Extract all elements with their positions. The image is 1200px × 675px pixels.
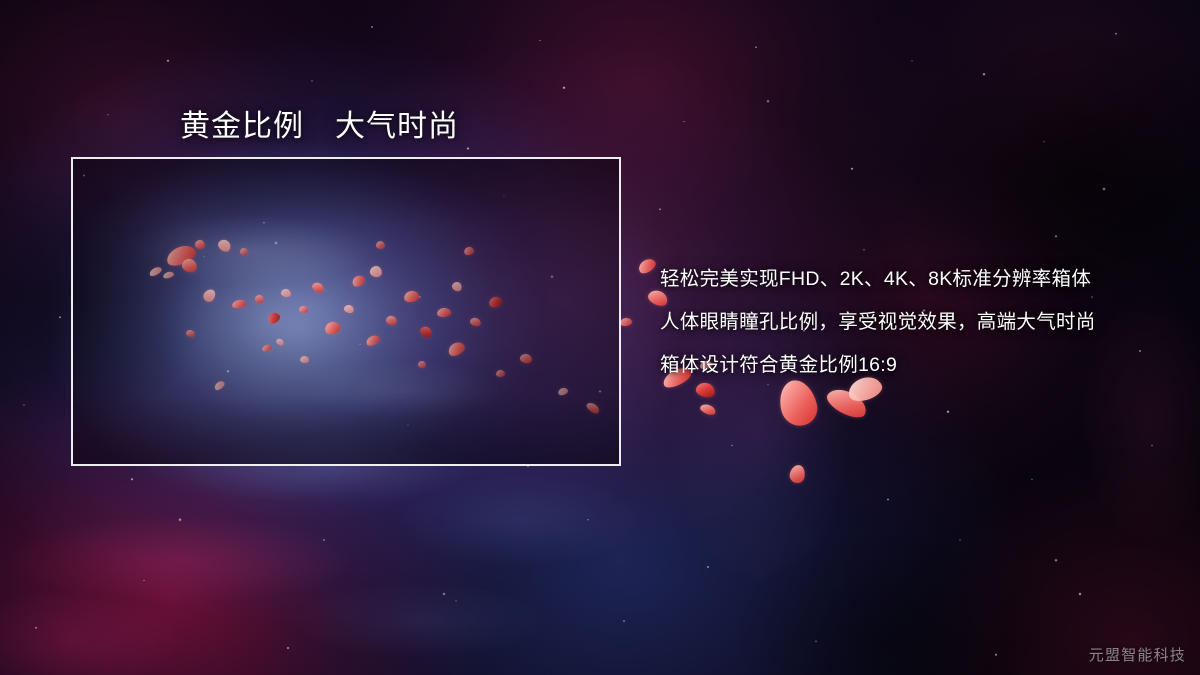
petal (636, 256, 658, 276)
page-title: 黄金比例 大气时尚 (180, 101, 459, 145)
body-line-1: 轻松完美实现FHD、2K、4K、8K标准分辨率箱体 (660, 258, 1170, 301)
frame-inner-shading (73, 159, 619, 464)
body-line-3: 箱体设计符合黄金比例16:9 (660, 344, 1170, 387)
petal (788, 463, 807, 484)
body-line-2: 人体眼睛瞳孔比例，享受视觉效果，高端大气时尚 (660, 301, 1170, 344)
cabinet-preview-frame (71, 157, 621, 466)
presentation-slide: 黄金比例 大气时尚 轻松完美实现FHD、2K、4K、8K标准分辨率箱体 人体眼睛… (0, 0, 1200, 675)
body-copy-block: 轻松完美实现FHD、2K、4K、8K标准分辨率箱体 人体眼睛瞳孔比例，享受视觉效… (660, 258, 1170, 387)
petal (619, 317, 632, 327)
brand-watermark: 元盟智能科技 (1089, 644, 1186, 665)
petal (823, 384, 870, 422)
petal (699, 403, 717, 417)
